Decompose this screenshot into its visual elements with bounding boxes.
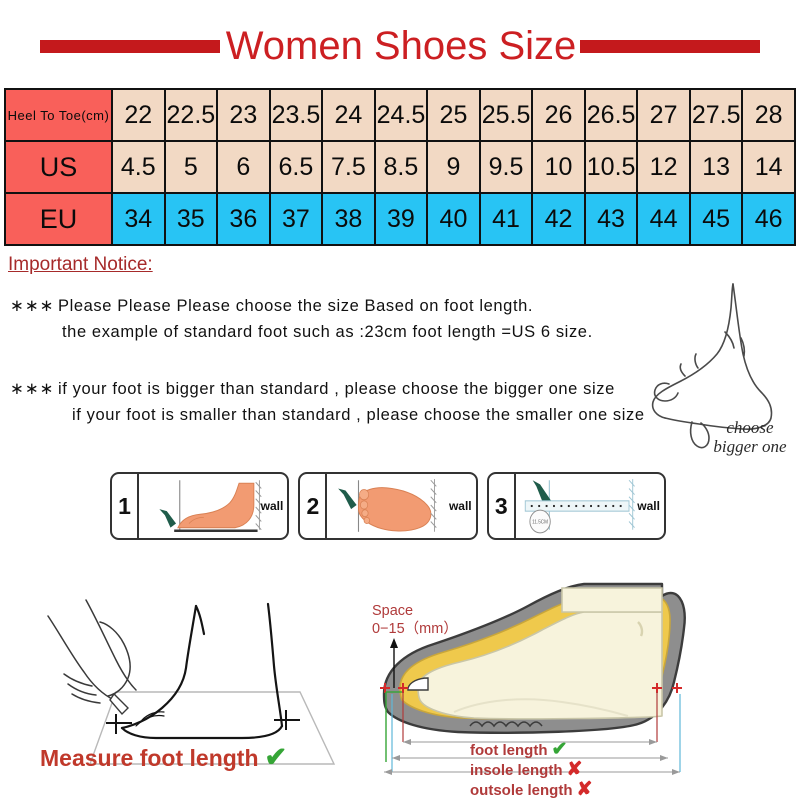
table-row-us: US 4.5 5 6 6.5 7.5 8.5 9 9.5 10 10.5 12 …: [5, 141, 795, 193]
cell-eu-10: 44: [637, 193, 690, 245]
foot-caption-line-2: bigger one: [690, 437, 800, 456]
cell-eu-4: 38: [322, 193, 375, 245]
measure-foot-length-caption: Measure foot length✔: [40, 742, 287, 773]
cell-eu-1: 35: [165, 193, 218, 245]
asterisk-marker-1: ∗∗∗: [10, 293, 58, 319]
cell-eu-8: 42: [532, 193, 585, 245]
step-3-illustration: 11.5CM wall: [516, 474, 664, 538]
cell-eu-7: 41: [480, 193, 533, 245]
step-number-1: 1: [112, 474, 139, 538]
cell-eu-3: 37: [270, 193, 323, 245]
step-number-3: 3: [489, 474, 516, 538]
cell-cm-0: 22: [112, 89, 165, 141]
title-bar-left: [40, 40, 220, 53]
foot-length-label-row: foot length✔: [470, 740, 592, 760]
cell-cm-6: 25: [427, 89, 480, 141]
notice-bullet-1-line-1: ∗∗∗Please Please Please choose the size …: [10, 293, 700, 319]
cell-us-11: 13: [690, 141, 743, 193]
notice-bullet-2: ∗∗∗if your foot is bigger than standard …: [10, 376, 700, 428]
cell-us-4: 7.5: [322, 141, 375, 193]
foot-sketch-caption: choose bigger one: [690, 418, 800, 456]
step-2-illustration: wall: [327, 474, 475, 538]
cell-us-10: 12: [637, 141, 690, 193]
cell-us-8: 10: [532, 141, 585, 193]
cell-cm-1: 22.5: [165, 89, 218, 141]
space-label-line-2: 0−15（mm）: [372, 620, 458, 638]
asterisk-marker-2: ∗∗∗: [10, 376, 58, 402]
measurement-steps-strip: 1 wall 2: [110, 472, 666, 540]
cell-cm-7: 25.5: [480, 89, 533, 141]
row-label-heel-to-toe: Heel To Toe(cm): [5, 89, 112, 141]
notice-text-2a: if your foot is bigger than standard , p…: [58, 380, 615, 398]
cell-cm-5: 24.5: [375, 89, 428, 141]
cell-eu-9: 43: [585, 193, 638, 245]
insole-length-cross-icon: ✘: [567, 759, 583, 780]
important-notice-heading: Important Notice:: [8, 254, 153, 276]
cell-eu-2: 36: [217, 193, 270, 245]
size-chart-table: Heel To Toe(cm) 22 22.5 23 23.5 24 24.5 …: [4, 88, 796, 246]
foot-length-label: foot length: [470, 742, 547, 759]
table-row-cm: Heel To Toe(cm) 22 22.5 23 23.5 24 24.5 …: [5, 89, 795, 141]
cell-eu-5: 39: [375, 193, 428, 245]
wall-label-3: wall: [637, 499, 660, 513]
space-gap-label: Space 0−15（mm）: [372, 602, 458, 638]
cell-us-0: 4.5: [112, 141, 165, 193]
check-mark-icon: ✔: [265, 742, 288, 772]
cell-cm-12: 28: [742, 89, 795, 141]
cell-cm-8: 26: [532, 89, 585, 141]
foot-caption-line-1: choose: [690, 418, 800, 437]
insole-length-label-row: insole length✘: [470, 760, 592, 780]
cell-us-12: 14: [742, 141, 795, 193]
cell-us-5: 8.5: [375, 141, 428, 193]
step-panel-3: 3 11.5CM: [487, 472, 666, 540]
notice-text-1a: Please Please Please choose the size Bas…: [58, 297, 533, 315]
page-title: Women Shoes Size: [226, 24, 577, 69]
step-number-2: 2: [300, 474, 327, 538]
cell-us-6: 9: [427, 141, 480, 193]
space-label-line-1: Space: [372, 602, 458, 620]
cell-us-3: 6.5: [270, 141, 323, 193]
cell-eu-12: 46: [742, 193, 795, 245]
insole-length-label: insole length: [470, 762, 563, 779]
table-row-eu: EU 34 35 36 37 38 39 40 41 42 43 44 45 4…: [5, 193, 795, 245]
cell-cm-3: 23.5: [270, 89, 323, 141]
cell-us-7: 9.5: [480, 141, 533, 193]
cell-eu-6: 40: [427, 193, 480, 245]
outsole-length-cross-icon: ✘: [577, 779, 593, 800]
step-1-illustration: wall: [139, 474, 287, 538]
notice-bullet-1: ∗∗∗Please Please Please choose the size …: [10, 293, 700, 345]
row-label-us: US: [5, 141, 112, 193]
cell-cm-9: 26.5: [585, 89, 638, 141]
measure-caption-text: Measure foot length: [40, 745, 259, 771]
step-panel-1: 1 wall: [110, 472, 289, 540]
cell-cm-2: 23: [217, 89, 270, 141]
outsole-length-label: outsole length: [470, 782, 573, 799]
wall-label-1: wall: [261, 499, 284, 513]
cell-cm-11: 27.5: [690, 89, 743, 141]
outsole-length-label-row: outsole length✘: [470, 780, 592, 800]
notice-text-1b: the example of standard foot such as :23…: [10, 319, 700, 345]
cell-us-1: 5: [165, 141, 218, 193]
step-panel-2: 2 wall: [298, 472, 477, 540]
cell-us-2: 6: [217, 141, 270, 193]
cell-eu-0: 34: [112, 193, 165, 245]
cell-cm-10: 27: [637, 89, 690, 141]
title-bar-right: [580, 40, 760, 53]
wall-label-2: wall: [449, 499, 472, 513]
svg-text:11.5CM: 11.5CM: [532, 519, 548, 525]
notice-bullet-2-line-1: ∗∗∗if your foot is bigger than standard …: [10, 376, 700, 402]
length-labels-group: foot length✔ insole length✘ outsole leng…: [470, 740, 592, 800]
notice-text-2b: if your foot is smaller than standard , …: [10, 402, 700, 428]
cell-us-9: 10.5: [585, 141, 638, 193]
page-title-row: Women Shoes Size: [0, 20, 800, 72]
cell-cm-4: 24: [322, 89, 375, 141]
row-label-eu: EU: [5, 193, 112, 245]
cell-eu-11: 45: [690, 193, 743, 245]
foot-length-check-icon: ✔: [551, 739, 567, 760]
